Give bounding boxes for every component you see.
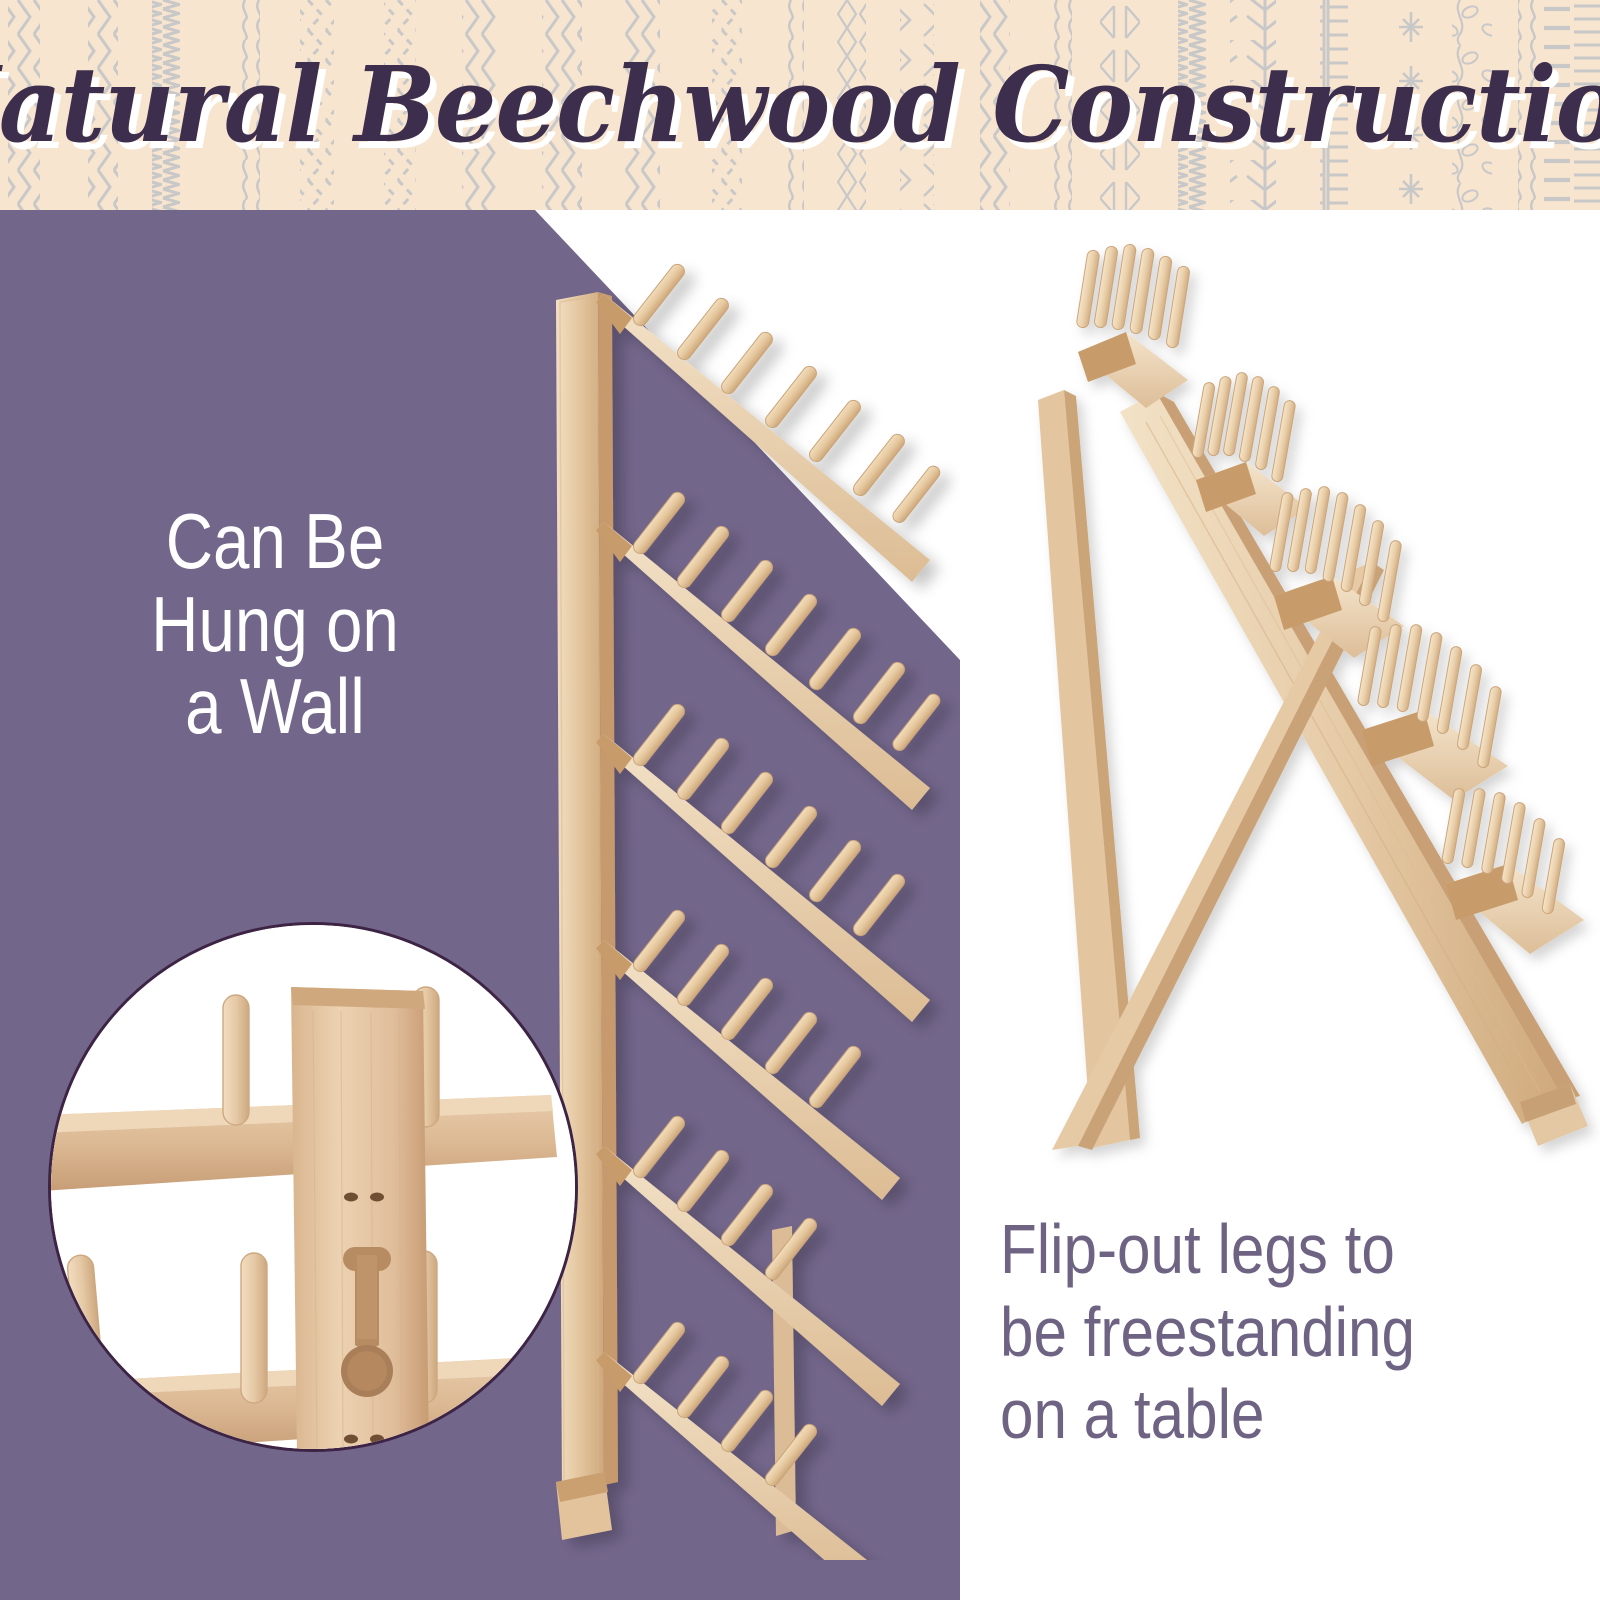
table-caption-line-3: on a table (1000, 1373, 1499, 1456)
keyhole-detail-inset (48, 922, 578, 1452)
wall-mounted-rack-photo (500, 230, 960, 1560)
table-caption-line-2: be freestanding (1000, 1291, 1499, 1374)
page-title: Natural Beechwood Construction (56, 0, 1544, 210)
header-band: Natural Beechwood Construction (0, 0, 1600, 210)
wall-caption-line-1: Can Be (94, 500, 455, 583)
keyhole-slot-closeup (51, 925, 578, 1452)
wall-caption-line-3: a Wall (94, 665, 455, 748)
wall-mount-caption: Can Be Hung on a Wall (94, 500, 455, 748)
wall-caption-line-2: Hung on (94, 583, 455, 666)
table-caption-line-1: Flip-out legs to (1000, 1208, 1499, 1291)
freestanding-caption: Flip-out legs to be freestanding on a ta… (1000, 1208, 1499, 1456)
freestanding-rack-photo (960, 240, 1600, 1200)
